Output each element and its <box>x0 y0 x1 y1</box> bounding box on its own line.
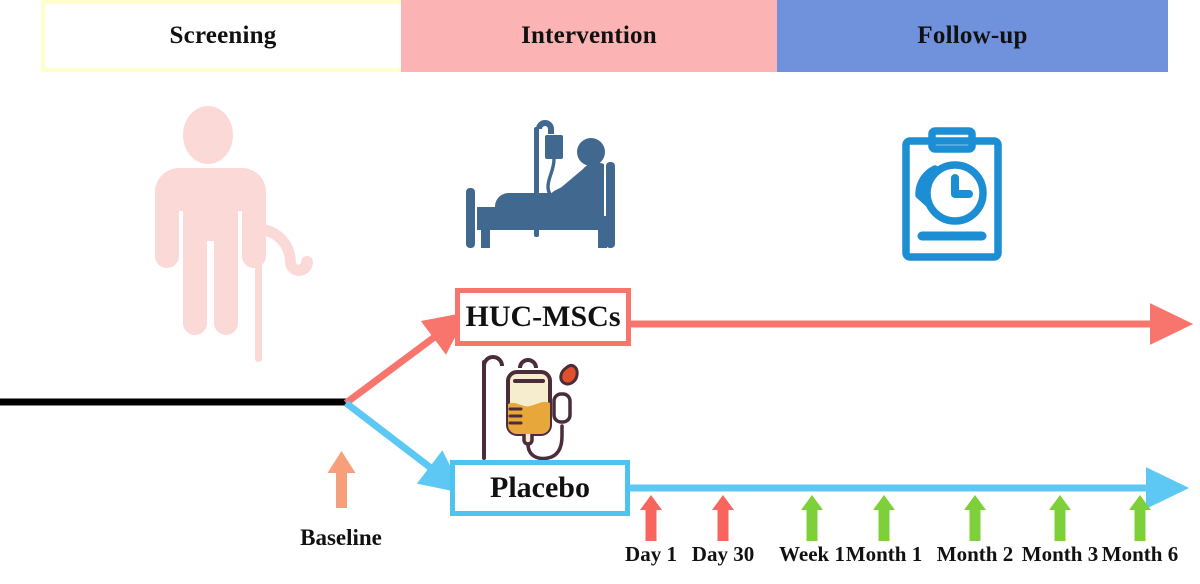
clipboard-clock-history-icon <box>906 131 998 257</box>
baseline-marker-arrow <box>328 451 356 508</box>
visit-marker-head <box>712 495 734 510</box>
timeline-label-month-2: Month 2 <box>937 542 1013 567</box>
visit-marker-head <box>1049 495 1071 510</box>
timeline-label-month-3: Month 3 <box>1022 542 1098 567</box>
visit-marker-shaft <box>1055 508 1066 541</box>
iv-infusion-bag-icon <box>484 357 577 458</box>
visit-marker-head <box>1129 495 1151 510</box>
trial-flow-diagram: Screening Intervention Follow-up <box>0 0 1200 584</box>
timeline-label-month-1: Month 1 <box>846 542 922 567</box>
timeline-label-day-1: Day 1 <box>625 542 677 567</box>
hospital-bed-patient-iv-icon <box>466 120 615 248</box>
baseline-label: Baseline <box>300 525 382 551</box>
timeline-label-month-6: Month 6 <box>1102 542 1178 567</box>
visit-marker-arrows <box>640 495 1151 541</box>
timeline-label-day-30: Day 30 <box>692 542 754 567</box>
visit-marker-shaft <box>970 508 981 541</box>
visit-marker-head <box>873 495 895 510</box>
elderly-patient-with-cane-icon <box>155 106 313 362</box>
visit-marker-head <box>640 495 662 510</box>
visit-marker-head <box>801 495 823 510</box>
arm-label-huc-mscs: HUC-MSCs <box>466 300 621 334</box>
timeline-label-week-1: Week 1 <box>779 542 845 567</box>
visit-marker-shaft <box>646 508 657 541</box>
arm-box-placebo[interactable]: Placebo <box>450 460 630 516</box>
visit-marker-shaft <box>879 508 890 541</box>
arm-label-placebo: Placebo <box>490 471 590 505</box>
visit-marker-shaft <box>1135 508 1146 541</box>
arm-box-huc-mscs[interactable]: HUC-MSCs <box>455 288 631 346</box>
visit-marker-head <box>964 495 986 510</box>
visit-marker-shaft <box>718 508 729 541</box>
visit-marker-shaft <box>807 508 818 541</box>
branch-arrow-huc <box>346 327 448 403</box>
branch-arrow-placebo <box>346 403 444 478</box>
